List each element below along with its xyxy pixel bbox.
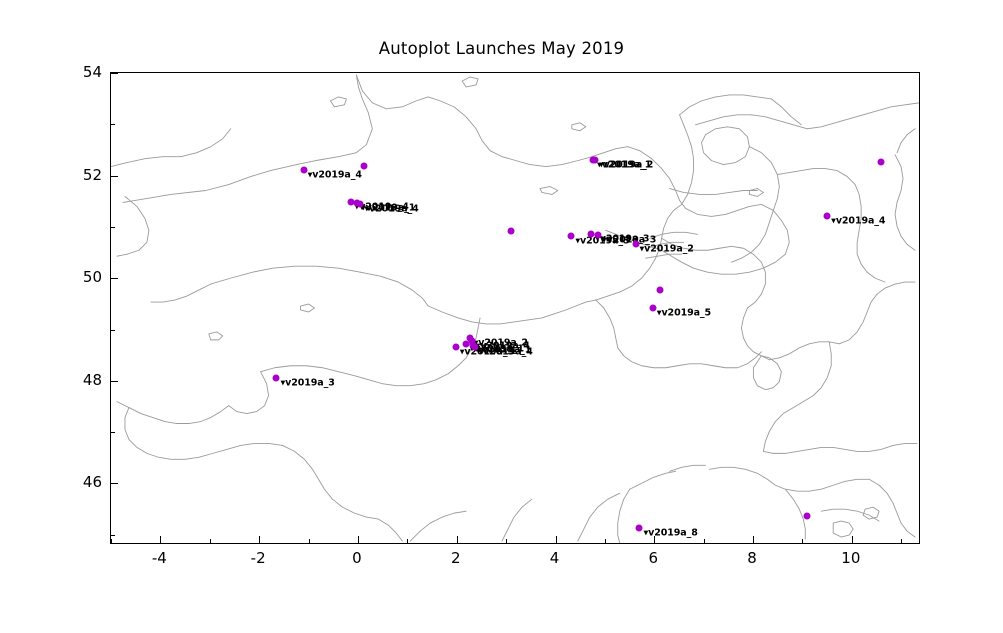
y-axis-tick-label: 54	[62, 63, 102, 81]
x-axis-tick	[309, 539, 310, 543]
x-axis-tick-label: 2	[451, 549, 461, 567]
data-point-marker[interactable]	[594, 232, 601, 239]
data-point-marker[interactable]	[471, 343, 478, 350]
y-axis-tick	[111, 73, 118, 74]
data-point-marker[interactable]	[568, 233, 575, 240]
y-axis-tick	[111, 176, 118, 177]
x-axis-tick	[160, 536, 161, 543]
y-axis-tick	[111, 278, 118, 279]
x-axis-tick	[605, 539, 606, 543]
data-point-label: ▾v2019a_2	[640, 244, 694, 255]
data-point-label: ▾v2019a_4	[479, 346, 533, 357]
x-axis-tick	[506, 539, 507, 543]
x-axis-tick-label: -2	[251, 549, 266, 567]
x-axis-tick	[556, 536, 557, 543]
y-axis-tick	[111, 483, 118, 484]
y-axis-tick	[111, 227, 115, 228]
data-point-label: ▾v2019a_8	[643, 528, 697, 539]
x-axis-tick-label: 4	[550, 549, 560, 567]
x-axis-tick-label: 0	[352, 549, 362, 567]
x-axis-tick	[852, 536, 853, 543]
data-point-label: ▾v2019a_3	[280, 378, 334, 389]
x-axis-tick	[704, 539, 705, 543]
x-axis-tick-label: 6	[649, 549, 659, 567]
data-point-marker[interactable]	[824, 212, 831, 219]
x-axis-tick	[210, 539, 211, 543]
data-point-marker[interactable]	[452, 344, 459, 351]
data-point-marker[interactable]	[878, 159, 885, 166]
y-axis-tick-label: 48	[62, 371, 102, 389]
data-point-marker[interactable]	[636, 525, 643, 532]
page-title: Autoplot Launches May 2019	[0, 39, 1003, 58]
y-axis-tick	[111, 124, 115, 125]
y-axis-tick-label: 46	[62, 473, 102, 491]
x-axis-tick	[457, 536, 458, 543]
data-point-marker[interactable]	[357, 200, 364, 207]
y-axis-tick-label: 50	[62, 268, 102, 286]
x-axis-tick-label: 8	[747, 549, 757, 567]
x-axis-tick	[654, 536, 655, 543]
x-axis-tick	[753, 536, 754, 543]
x-axis-tick	[111, 539, 112, 543]
y-axis-tick	[111, 330, 115, 331]
data-point-label: ▾v2019a_4	[364, 203, 418, 214]
data-point-marker[interactable]	[273, 375, 280, 382]
x-axis-tick	[407, 539, 408, 543]
data-point-marker[interactable]	[632, 241, 639, 248]
data-point-label: ▾v2019a_4	[308, 170, 362, 181]
data-point-label: ▾v2019a_5	[657, 307, 711, 318]
data-point-marker[interactable]	[300, 167, 307, 174]
figure-canvas: Autoplot Launches May 2019	[0, 0, 1003, 633]
data-point-marker[interactable]	[592, 157, 599, 164]
data-point-marker[interactable]	[360, 163, 367, 170]
basemap-coastlines	[111, 73, 919, 543]
data-point-label: ▾v2019a_4	[831, 215, 885, 226]
x-axis-tick	[259, 536, 260, 543]
data-point-marker[interactable]	[804, 512, 811, 519]
y-axis-tick	[111, 535, 115, 536]
y-axis-tick-label: 52	[62, 166, 102, 184]
x-axis-tick	[901, 539, 902, 543]
data-point-marker[interactable]	[508, 228, 515, 235]
data-point-marker[interactable]	[649, 304, 656, 311]
y-axis-tick	[111, 432, 115, 433]
x-axis-tick	[358, 536, 359, 543]
x-axis-tick	[802, 539, 803, 543]
x-axis-tick-label: -4	[152, 549, 167, 567]
data-point-label: ▾v2019a_2	[599, 160, 653, 171]
y-axis-tick	[111, 381, 118, 382]
data-point-marker[interactable]	[657, 286, 664, 293]
scatter-map-axes: ▾v2019a_4▾v2019a_4▾v2019a_1▾v2019a_4▾v20…	[110, 72, 920, 544]
x-axis-tick-label: 10	[841, 549, 860, 567]
